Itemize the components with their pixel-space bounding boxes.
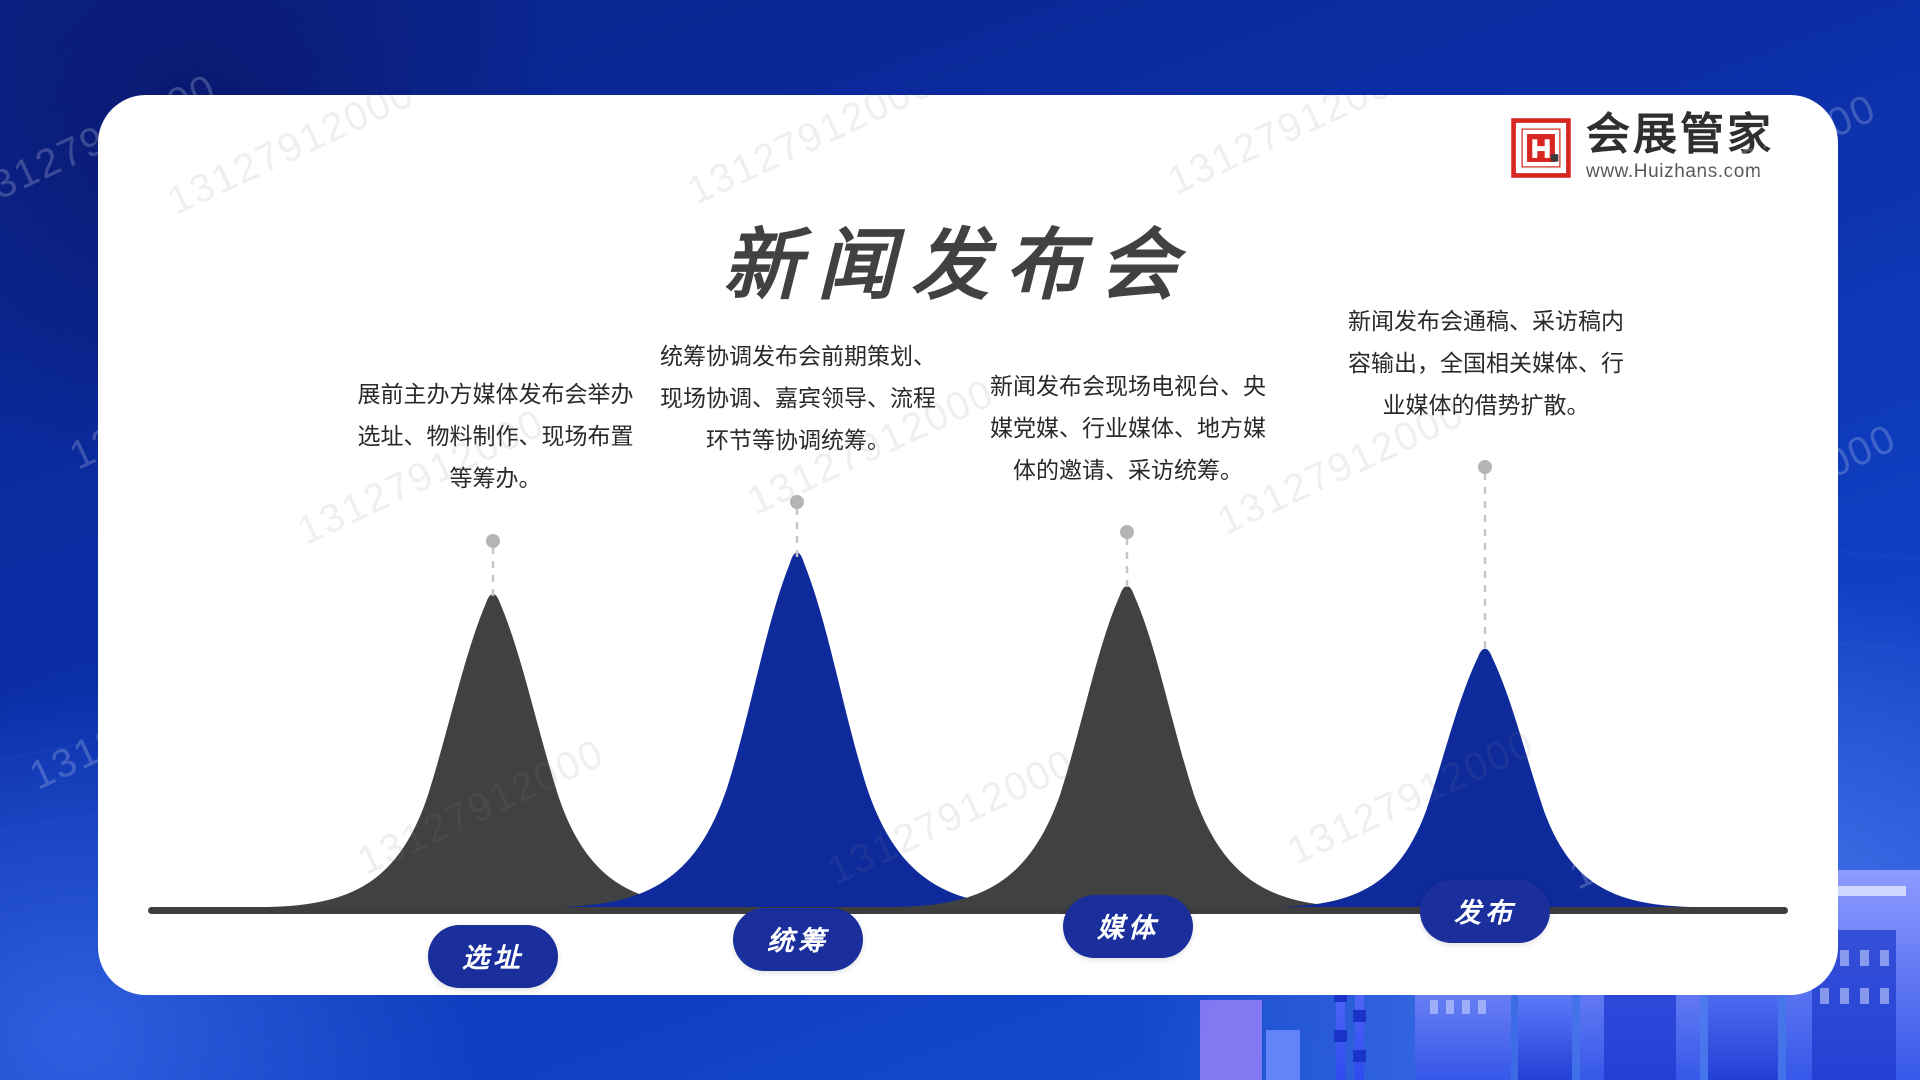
peak-shape-3 — [898, 586, 1356, 907]
step-description-2: 统筹协调发布会前期策划、现场协调、嘉宾领导、流程环节等协调统筹。 — [654, 337, 942, 463]
peak-shape-4 — [1278, 649, 1692, 907]
peaks-chart — [98, 95, 1838, 995]
step-description-1: 展前主办方媒体发布会举办选址、物料制作、现场布置等筹办。 — [353, 375, 638, 501]
step-pill-xuanzhi[interactable]: 选址 — [428, 925, 558, 988]
step-pill-fabu[interactable]: 发布 — [1420, 880, 1550, 943]
step-description-4: 新闻发布会通稿、采访稿内容输出，全国相关媒体、行业媒体的借势扩散。 — [1341, 302, 1631, 428]
peak-shape-2 — [558, 553, 1036, 908]
connector-lines — [493, 473, 1485, 653]
step-description-3: 新闻发布会现场电视台、央媒党媒、行业媒体、地方媒体的邀请、采访统筹。 — [984, 367, 1272, 493]
peak-shape-1 — [268, 594, 718, 907]
step-pill-meiti[interactable]: 媒体 — [1063, 895, 1193, 958]
process-diagram: 展前主办方媒体发布会举办选址、物料制作、现场布置等筹办。 统筹协调发布会前期策划… — [98, 95, 1838, 995]
step-pill-tongchou[interactable]: 统筹 — [733, 908, 863, 971]
content-card: 13127912000 13127912000 13127912000 1312… — [98, 95, 1838, 995]
